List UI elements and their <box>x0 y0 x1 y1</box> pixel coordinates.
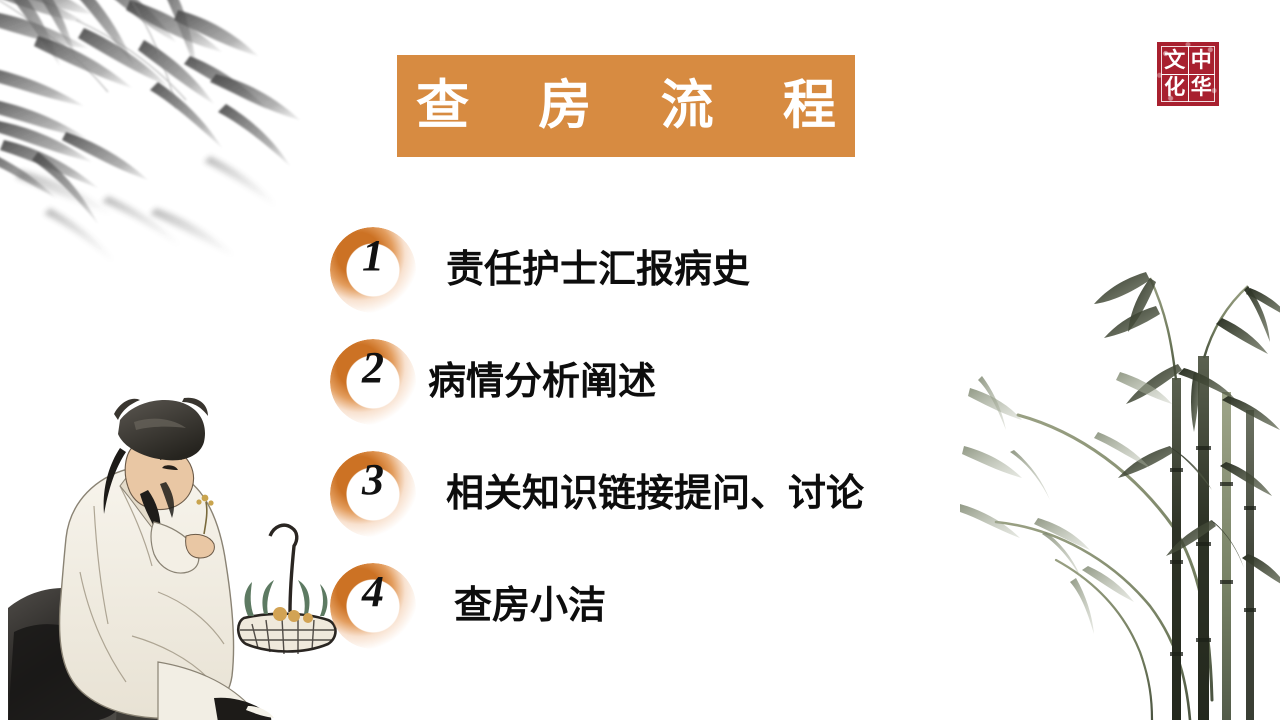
list-item-step-3[interactable]: 3 相关知识链接提问、讨论 <box>330 438 1030 550</box>
step-number-2: 2 <box>330 326 416 412</box>
step-number-3: 3 <box>330 438 416 524</box>
bamboo-leaves-decoration <box>0 0 310 270</box>
title-banner: 查 房 流 程 <box>397 55 855 157</box>
chinese-culture-seal-icon: 文 中 化 华 <box>1157 42 1219 106</box>
step-label-1: 责任护士汇报病史 <box>446 251 750 289</box>
seal-glyph-zhong: 中 <box>1190 48 1214 73</box>
step-list: 1 责任护士汇报病史 2 病情分析阐述 3 相关知识链接提问、讨论 4 查房小洁 <box>330 214 1030 662</box>
herbalist-figure-illustration <box>8 386 348 720</box>
slide-canvas: 查 房 流 程 文 中 化 华 1 责任护士汇报病史 2 病情分析阐述 <box>0 0 1280 720</box>
step-label-3: 相关知识链接提问、讨论 <box>446 475 864 513</box>
list-item-step-2[interactable]: 2 病情分析阐述 <box>330 326 1030 438</box>
step-label-2: 病情分析阐述 <box>428 363 656 401</box>
list-item-step-1[interactable]: 1 责任护士汇报病史 <box>330 214 1030 326</box>
step-number-1: 1 <box>330 214 416 300</box>
list-item-step-4[interactable]: 4 查房小洁 <box>330 550 1030 662</box>
page-title: 查 房 流 程 <box>388 80 864 133</box>
seal-glyph-wen: 文 <box>1163 48 1187 73</box>
seal-glyph-hua: 化 <box>1163 76 1187 101</box>
step-number-4: 4 <box>330 550 416 636</box>
step-label-4: 查房小洁 <box>454 587 606 625</box>
seal-glyph-hua2: 华 <box>1190 76 1214 101</box>
